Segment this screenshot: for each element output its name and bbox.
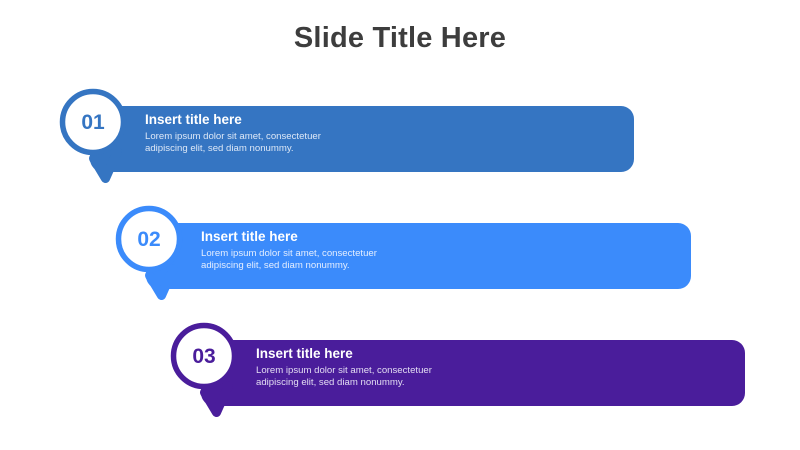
pin-number-02: 02 [115,229,183,250]
row-title-01: Insert title here [145,112,565,128]
content-text-03: Insert title here Lorem ipsum dolor sit … [256,346,676,390]
pin-tail-shape-03 [205,386,229,413]
marker-pin-01[interactable]: 01 [60,88,180,208]
slide-canvas: Slide Title Here Insert title here Lorem… [0,0,800,450]
row-body-03: Lorem ipsum dolor sit amet, consectetuer… [256,365,676,390]
pin-number-03: 03 [170,346,238,367]
row-title-03: Insert title here [256,346,676,362]
pin-tail-shape-02 [150,269,174,296]
info-row-01[interactable]: Insert title here Lorem ipsum dolor sit … [60,88,800,208]
content-text-02: Insert title here Lorem ipsum dolor sit … [201,229,621,273]
pin-tail-shape-01 [94,152,118,179]
content-text-01: Insert title here Lorem ipsum dolor sit … [145,112,565,156]
marker-pin-03[interactable]: 03 [171,322,291,442]
row-body-01: Lorem ipsum dolor sit amet, consectetuer… [145,131,565,156]
row-title-02: Insert title here [201,229,621,245]
row-body-02: Lorem ipsum dolor sit amet, consectetuer… [201,248,621,273]
pin-number-01: 01 [59,112,127,133]
page-title: Slide Title Here [0,22,800,55]
info-row-03[interactable]: Insert title here Lorem ipsum dolor sit … [171,322,800,442]
marker-pin-02[interactable]: 02 [116,205,236,325]
info-row-02[interactable]: Insert title here Lorem ipsum dolor sit … [116,205,800,325]
